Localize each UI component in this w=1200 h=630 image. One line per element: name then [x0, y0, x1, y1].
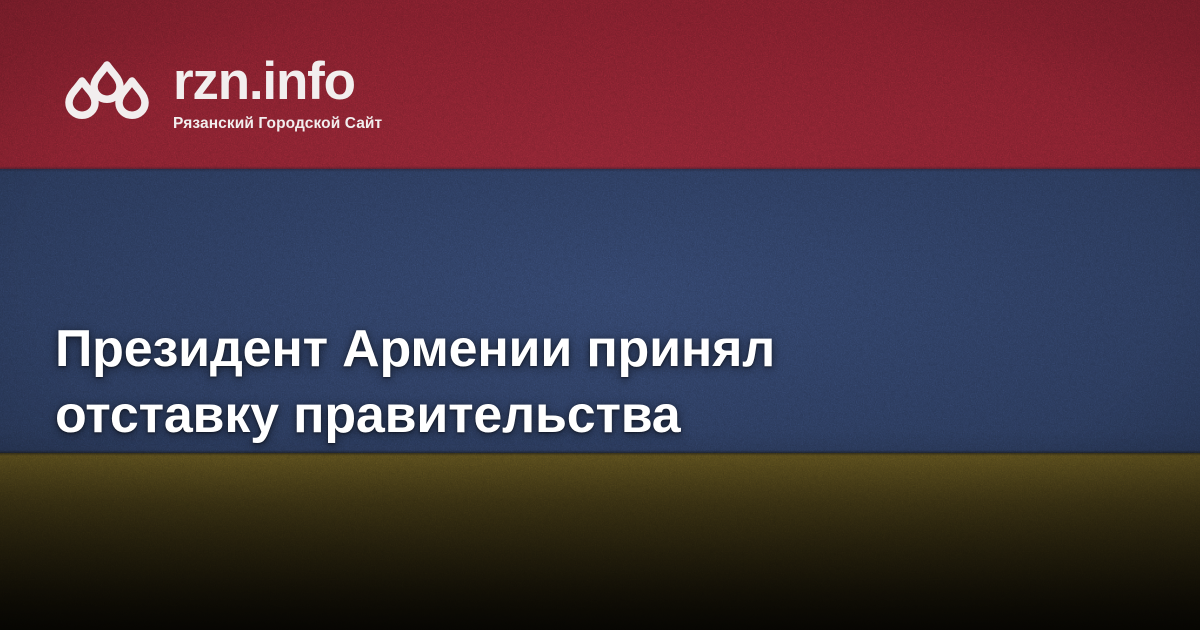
logo-tagline: Рязанский Городской Сайт: [173, 115, 382, 133]
site-logo[interactable]: rzn.info Рязанский Городской Сайт: [55, 55, 382, 133]
headline-line-2: отставку правительства: [55, 382, 955, 448]
logo-wordmark: rzn.info: [173, 55, 382, 108]
flag-stripe-gold: [0, 453, 1200, 630]
logo-text-block: rzn.info Рязанский Городской Сайт: [173, 55, 382, 133]
headline-line-1: Президент Армении принял: [55, 316, 955, 382]
onion-domes-icon: [55, 59, 159, 121]
headline: Президент Армении принял отставку правит…: [55, 316, 955, 448]
share-card: rzn.info Рязанский Городской Сайт Презид…: [0, 0, 1200, 630]
